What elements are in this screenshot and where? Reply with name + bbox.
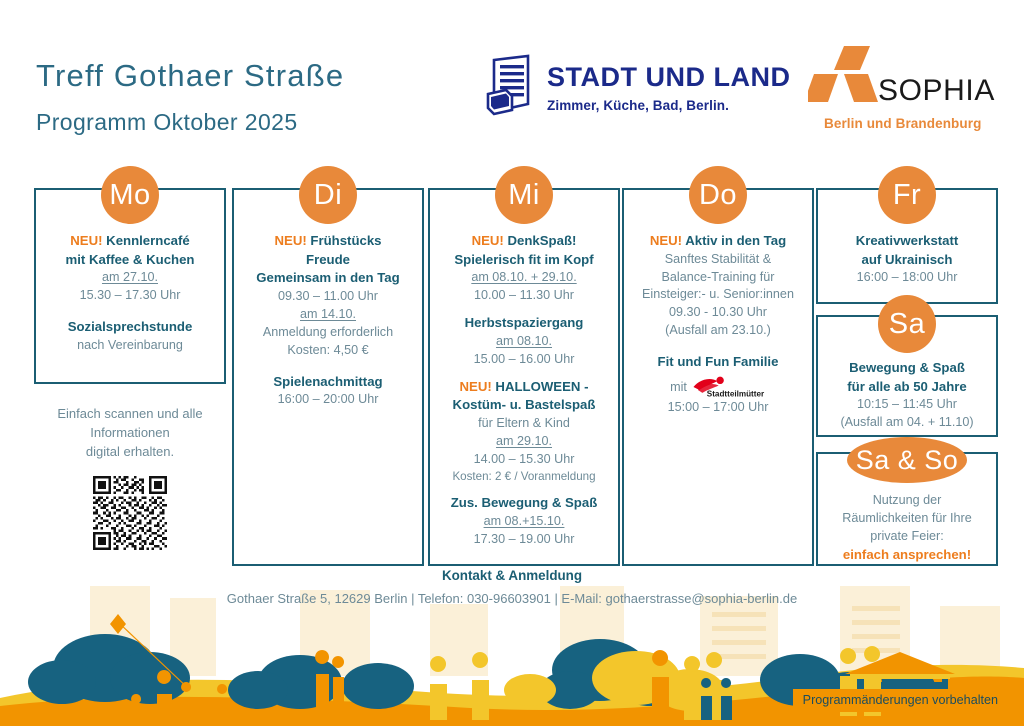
partner-prefix: mit xyxy=(670,380,687,394)
program-poster: Treff Gothaer Straße Programm Oktober 20… xyxy=(0,0,1024,726)
event-time: 14.00 – 15.30 Uhr xyxy=(438,451,610,469)
building-icon xyxy=(484,54,540,116)
event-time: 16:00 – 18:00 Uhr xyxy=(826,269,988,287)
contact-section: Kontakt & Anmeldung Gothaer Straße 5, 12… xyxy=(0,568,1024,606)
event-item: Nutzung der Räumlichkeiten für Ihre priv… xyxy=(826,492,988,564)
event-item: Bewegung & Spaß für alle ab 50 Jahre 10:… xyxy=(826,359,988,432)
event-title-line2: mit Kaffee & Kuchen xyxy=(44,251,216,270)
event-item: Kreativwerkstatt auf Ukrainisch 16:00 – … xyxy=(826,232,988,287)
day-badge-mi: Mi xyxy=(495,166,553,224)
day-badge-fr: Fr xyxy=(878,166,936,224)
event-cost: Kosten: 2 € / Voranmeldung xyxy=(438,469,610,485)
day-badge-di: Di xyxy=(299,166,357,224)
page-subtitle: Programm Oktober 2025 xyxy=(36,109,344,136)
event-item: NEU! HALLOWEEN - Kostüm- u. Bastelspaß f… xyxy=(438,378,610,486)
event-desc-line3: private Feier: xyxy=(826,528,988,546)
event-date: am 14.10. xyxy=(242,306,414,324)
event-title-line2: für alle ab 50 Jahre xyxy=(826,378,988,397)
stadtteilmuetter-logo-icon: Stadtteilmütter xyxy=(692,375,766,399)
event-desc-line3: Einsteiger:- u. Senior:innen xyxy=(632,286,804,304)
event-desc-line2: Balance-Training für xyxy=(632,269,804,287)
sophia-name: SOPHIA xyxy=(878,74,995,108)
event-title: Zus. Bewegung & Spaß xyxy=(438,494,610,513)
event-desc-line1: Sanftes Stabilität & xyxy=(632,251,804,269)
neu-badge: NEU! xyxy=(650,233,682,248)
event-item: Spielenachmittag 16:00 – 20:00 Uhr xyxy=(242,373,414,410)
contact-title: Kontakt & Anmeldung xyxy=(0,568,1024,583)
partner-row: mit Stadtteilmütter xyxy=(632,375,804,399)
day-badge-sa: Sa xyxy=(878,295,936,353)
event-desc-line1: Nutzung der xyxy=(826,492,988,510)
event-title: NEU! HALLOWEEN - xyxy=(438,378,610,397)
event-date: am 08.10. + 29.10. xyxy=(438,269,610,287)
neu-badge: NEU! xyxy=(460,379,492,394)
event-time: 10.00 – 11.30 Uhr xyxy=(438,287,610,305)
event-date: am 08.+15.10. xyxy=(438,513,610,531)
qr-caption-line3: digital erhalten. xyxy=(34,443,226,462)
event-audience: für Eltern & Kind xyxy=(438,415,610,433)
event-item: NEU! Frühstücks Freude Gemeinsam in den … xyxy=(242,232,414,360)
day-column-mi: NEU! DenkSpaß! Spielerisch fit im Kopf a… xyxy=(428,188,620,566)
event-time: 09.30 - 10.30 Uhr xyxy=(632,304,804,322)
contact-details: Gothaer Straße 5, 12629 Berlin | Telefon… xyxy=(0,591,1024,606)
event-item: Sozialsprechstunde nach Vereinbarung xyxy=(44,318,216,355)
neu-badge: NEU! xyxy=(275,233,307,248)
day-badge-do: Do xyxy=(689,166,747,224)
event-title: NEU! Kennlerncafé xyxy=(44,232,216,251)
event-cost: Kosten: 4,50 € xyxy=(242,342,414,360)
event-time: 10:15 – 11:45 Uhr xyxy=(826,396,988,414)
neu-badge: NEU! xyxy=(70,233,102,248)
event-item: Fit und Fun Familie mit Stadtteilmütter … xyxy=(632,353,804,417)
event-item: NEU! Aktiv in den Tag Sanftes Stabilität… xyxy=(632,232,804,340)
stadt-und-land-name: STADT UND LAND xyxy=(547,64,790,91)
sophia-logo: SOPHIA Berlin und Brandenburg xyxy=(800,44,1000,136)
event-title-line2: Freude xyxy=(242,251,414,270)
event-date: am 08.10. xyxy=(438,333,610,351)
event-title: Sozialsprechstunde xyxy=(44,318,216,337)
qr-caption-line1: Einfach scannen und alle xyxy=(34,405,226,424)
event-title-line3: Gemeinsam in den Tag xyxy=(242,269,414,288)
event-title: Bewegung & Spaß xyxy=(826,359,988,378)
event-title: NEU! Aktiv in den Tag xyxy=(632,232,804,251)
event-title: NEU! Frühstücks xyxy=(242,232,414,251)
disclaimer-note: Programmänderungen vorbehalten xyxy=(793,689,1008,712)
day-badge-mo: Mo xyxy=(101,166,159,224)
event-title: NEU! DenkSpaß! xyxy=(438,232,610,251)
event-time: 09.30 – 11.00 Uhr xyxy=(242,288,414,306)
event-item: Zus. Bewegung & Spaß am 08.+15.10. 17.30… xyxy=(438,494,610,548)
event-title-line2: auf Ukrainisch xyxy=(826,251,988,270)
title-block: Treff Gothaer Straße Programm Oktober 20… xyxy=(36,58,344,136)
event-time: 16:00 – 20:00 Uhr xyxy=(242,391,414,409)
event-highlight: einfach ansprechen! xyxy=(826,546,988,565)
day-column-di: NEU! Frühstücks Freude Gemeinsam in den … xyxy=(232,188,424,566)
event-item: Herbstspaziergang am 08.10. 15.00 – 16.0… xyxy=(438,314,610,368)
page-title: Treff Gothaer Straße xyxy=(36,58,344,94)
event-title-line2: Kostüm- u. Bastelspaß xyxy=(438,396,610,415)
event-time: 15.00 – 16.00 Uhr xyxy=(438,351,610,369)
event-title: Kreativwerkstatt xyxy=(826,232,988,251)
event-title-line2: Spielerisch fit im Kopf xyxy=(438,251,610,270)
poster-header: Treff Gothaer Straße Programm Oktober 20… xyxy=(0,0,1024,160)
qr-code-icon xyxy=(93,476,167,550)
qr-caption-line2: Informationen xyxy=(34,424,226,443)
svg-text:Stadtteilmütter: Stadtteilmütter xyxy=(707,389,765,398)
event-time: 15:00 – 17:00 Uhr xyxy=(632,399,804,417)
day-badge-sa-so: Sa & So xyxy=(847,437,967,483)
day-column-do: NEU! Aktiv in den Tag Sanftes Stabilität… xyxy=(622,188,814,566)
event-note: (Ausfall am 23.10.) xyxy=(632,322,804,340)
event-title: Spielenachmittag xyxy=(242,373,414,392)
event-note: nach Vereinbarung xyxy=(44,337,216,355)
event-date: am 27.10. xyxy=(44,269,216,287)
event-title: Fit und Fun Familie xyxy=(632,353,804,372)
event-title: Herbstspaziergang xyxy=(438,314,610,333)
event-item: NEU! DenkSpaß! Spielerisch fit im Kopf a… xyxy=(438,232,610,305)
event-item: NEU! Kennlerncafé mit Kaffee & Kuchen am… xyxy=(44,232,216,305)
sophia-subtitle: Berlin und Brandenburg xyxy=(824,116,981,131)
event-note: (Ausfall am 04. + 11.10) xyxy=(826,414,988,432)
event-desc-line2: Räumlichkeiten für Ihre xyxy=(826,510,988,528)
stadt-und-land-tagline: Zimmer, Küche, Bad, Berlin. xyxy=(547,98,790,113)
event-time: 17.30 – 19.00 Uhr xyxy=(438,531,610,549)
neu-badge: NEU! xyxy=(472,233,504,248)
event-note: Anmeldung erforderlich xyxy=(242,324,414,342)
event-date: am 29.10. xyxy=(438,433,610,451)
event-time: 15.30 – 17.30 Uhr xyxy=(44,287,216,305)
stadt-und-land-logo: STADT UND LAND Zimmer, Küche, Bad, Berli… xyxy=(484,52,766,134)
qr-section: Einfach scannen und alle Informationen d… xyxy=(34,405,226,550)
